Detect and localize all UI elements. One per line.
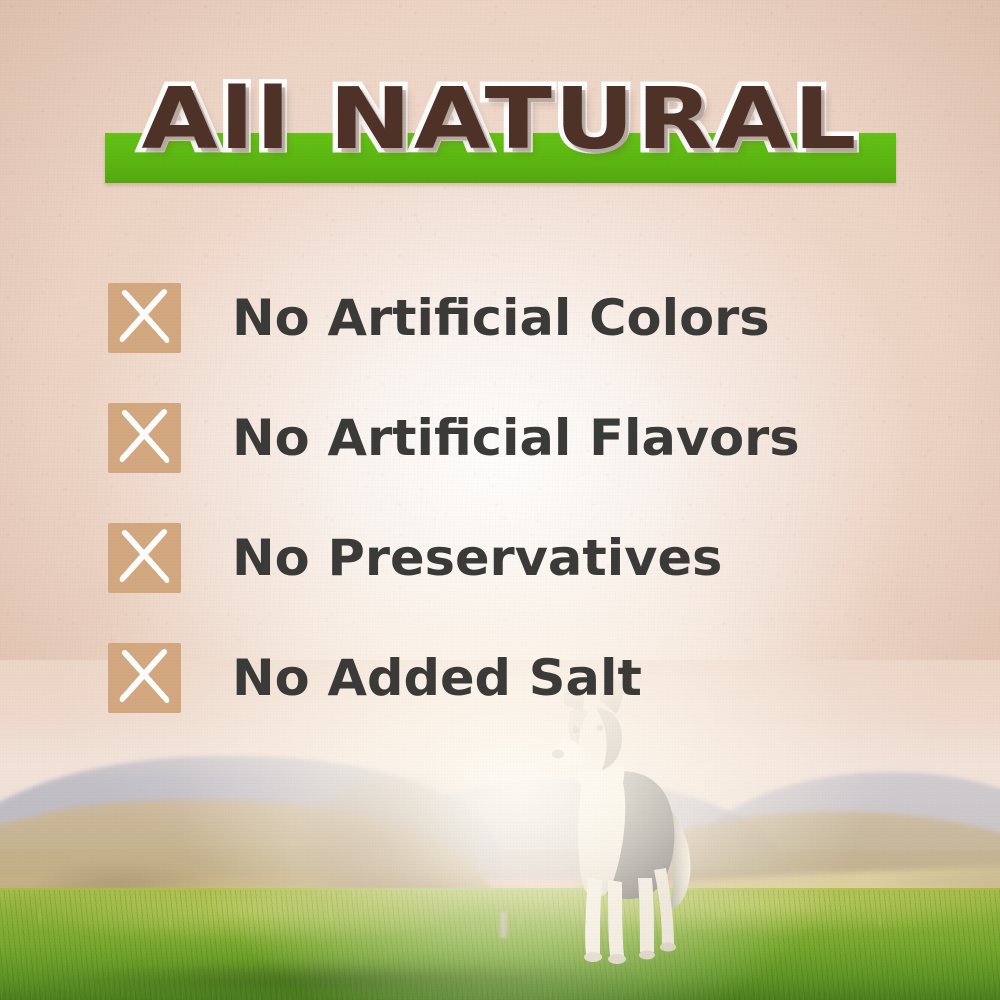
all-natural-poster: All NATURAL No Artificial Colors No Arti… — [0, 0, 1000, 1000]
claims-list: No Artificial Colors No Artificial Flavo… — [0, 258, 1000, 738]
x-mark-icon — [108, 283, 181, 353]
claim-label: No Artificial Colors — [232, 292, 770, 344]
fence-post — [500, 912, 507, 938]
page-title: All NATURAL — [0, 74, 1000, 166]
claim-row-no-artificial-flavors: No Artificial Flavors — [0, 378, 1000, 498]
claim-label: No Artificial Flavors — [232, 412, 800, 464]
x-mark-icon — [108, 523, 181, 593]
x-mark-icon — [108, 403, 181, 473]
x-mark-icon — [108, 643, 181, 713]
claim-row-no-artificial-colors: No Artificial Colors — [0, 258, 1000, 378]
claim-label: No Preservatives — [232, 532, 722, 584]
claim-row-no-preservatives: No Preservatives — [0, 498, 1000, 618]
claim-row-no-added-salt: No Added Salt — [0, 618, 1000, 738]
claim-label: No Added Salt — [232, 652, 642, 704]
headline-banner: All NATURAL — [0, 0, 1000, 230]
